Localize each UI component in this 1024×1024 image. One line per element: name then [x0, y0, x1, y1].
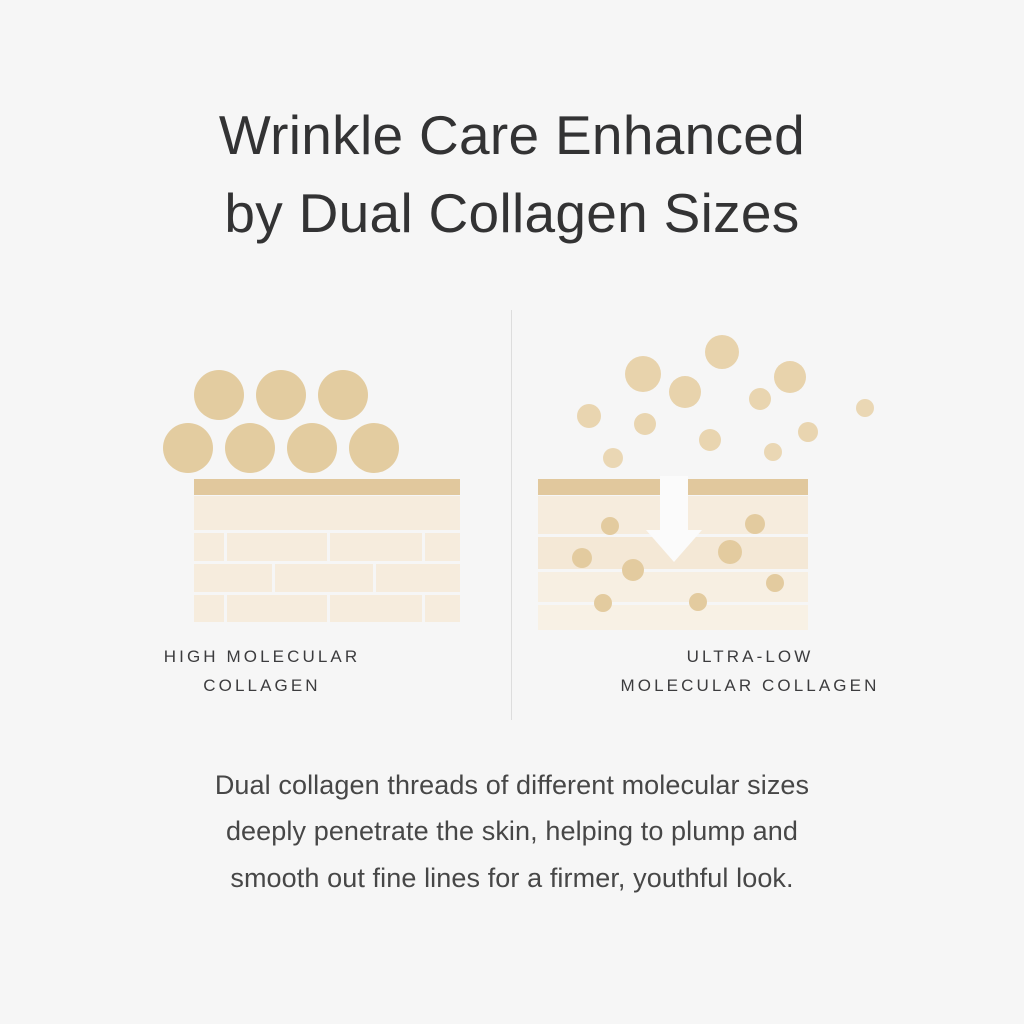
brick — [194, 595, 224, 622]
body-line-3: smooth out fine lines for a firmer, yout… — [0, 855, 1024, 901]
brick — [376, 564, 460, 592]
brick-row-2 — [194, 564, 460, 592]
molecule-large — [287, 423, 337, 473]
molecule-large — [163, 423, 213, 473]
high-molecular-diagram — [32, 330, 492, 630]
panel-divider — [511, 310, 512, 720]
brick — [275, 564, 373, 592]
caption-ultra-low-molecular: ULTRA-LOW MOLECULAR COLLAGEN — [520, 642, 980, 700]
body-line-1: Dual collagen threads of different molec… — [0, 762, 1024, 808]
molecule-embedded — [745, 514, 765, 534]
molecule-small — [577, 404, 601, 428]
skin-surface-bar — [194, 479, 460, 495]
molecule-embedded — [689, 593, 707, 611]
molecule-embedded — [572, 548, 592, 568]
panel-ultra-low-molecular: ULTRA-LOW MOLECULAR COLLAGEN — [520, 330, 980, 730]
brick — [425, 595, 460, 622]
molecule-large — [349, 423, 399, 473]
molecule-embedded — [718, 540, 742, 564]
molecule-embedded — [766, 574, 784, 592]
caption-line-2: COLLAGEN — [32, 671, 492, 700]
molecule-small — [856, 399, 874, 417]
brick-row-1 — [194, 533, 460, 561]
panel-high-molecular: HIGH MOLECULAR COLLAGEN — [32, 330, 492, 730]
scattered-molecule-group — [577, 335, 874, 468]
molecule-small — [625, 356, 661, 392]
page-title: Wrinkle Care Enhanced by Dual Collagen S… — [0, 96, 1024, 252]
molecule-group-top — [194, 370, 368, 420]
molecule-large — [318, 370, 368, 420]
molecule-embedded — [622, 559, 644, 581]
infographic-canvas: Wrinkle Care Enhanced by Dual Collagen S… — [0, 0, 1024, 1024]
molecule-small — [669, 376, 701, 408]
title-line-2: by Dual Collagen Sizes — [0, 174, 1024, 252]
molecule-small — [798, 422, 818, 442]
body-line-2: deeply penetrate the skin, helping to pl… — [0, 808, 1024, 854]
skin-band — [194, 496, 460, 530]
molecule-small — [764, 443, 782, 461]
ultra-low-molecular-diagram — [520, 330, 980, 630]
molecule-small — [749, 388, 771, 410]
brick — [194, 564, 272, 592]
brick-row-3 — [194, 595, 460, 622]
caption-line-2: MOLECULAR COLLAGEN — [520, 671, 980, 700]
molecule-small — [705, 335, 739, 369]
brick — [330, 595, 422, 622]
molecule-small — [699, 429, 721, 451]
brick — [425, 533, 460, 561]
molecule-large — [225, 423, 275, 473]
skin-surface-bar-left — [538, 479, 666, 495]
title-line-1: Wrinkle Care Enhanced — [0, 96, 1024, 174]
molecule-small — [634, 413, 656, 435]
molecule-group-bottom — [163, 423, 399, 473]
molecule-small — [603, 448, 623, 468]
brick — [330, 533, 422, 561]
caption-high-molecular: HIGH MOLECULAR COLLAGEN — [32, 642, 492, 700]
caption-line-1: ULTRA-LOW — [520, 642, 980, 671]
brick — [227, 533, 327, 561]
skin-layer-4 — [538, 605, 808, 630]
skin-surface-bar-right — [684, 479, 808, 495]
brick — [194, 533, 224, 561]
molecule-large — [256, 370, 306, 420]
body-paragraph: Dual collagen threads of different molec… — [0, 762, 1024, 901]
molecule-embedded — [601, 517, 619, 535]
molecule-embedded — [594, 594, 612, 612]
brick — [227, 595, 327, 622]
caption-line-1: HIGH MOLECULAR — [32, 642, 492, 671]
molecule-small — [774, 361, 806, 393]
molecule-large — [194, 370, 244, 420]
